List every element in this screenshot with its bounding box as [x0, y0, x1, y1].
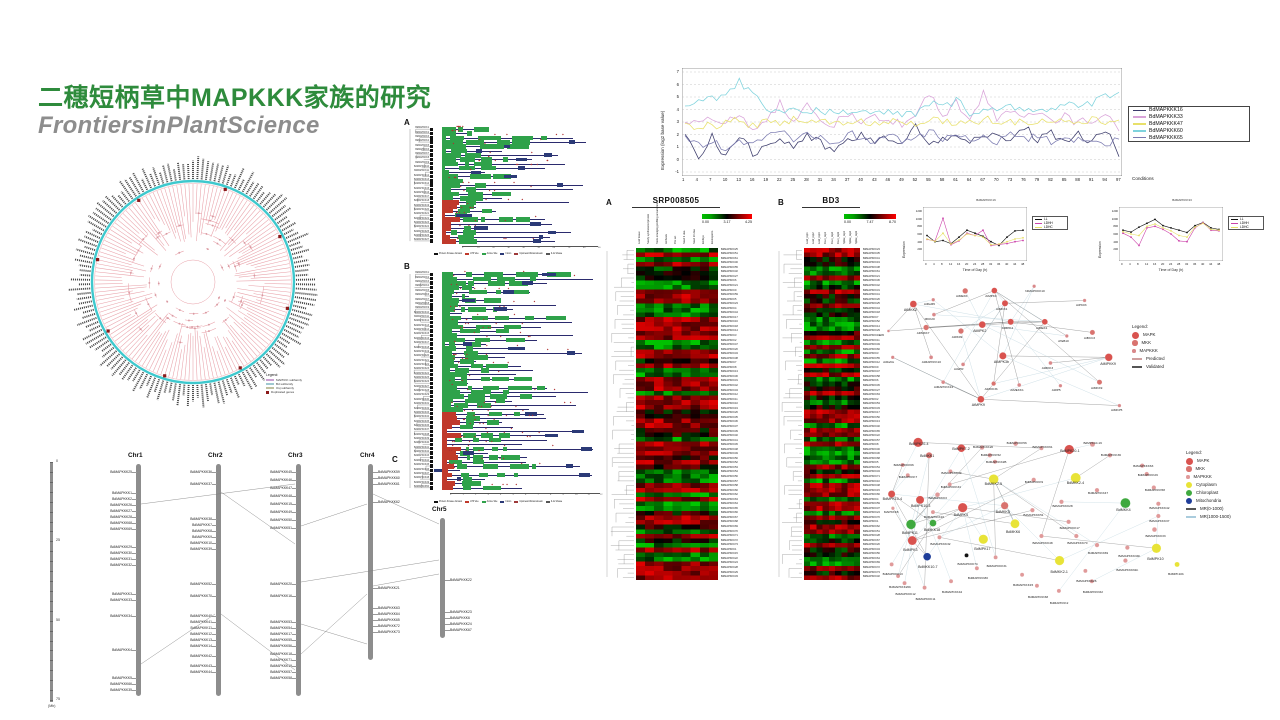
circadian-data-point [1122, 231, 1124, 233]
heatmap-row-label: BdMAPKKK32 [863, 575, 880, 580]
network-legend-item: MKK [1132, 339, 1212, 347]
chart-legend-item: BdMAPKKK60 [1129, 127, 1249, 134]
circadian-data-point [990, 241, 992, 243]
gene-structure-row-label: BdMAPKKK20 [406, 209, 429, 211]
motif-marker: ◆ [450, 306, 452, 308]
motif-marker: ◆ [508, 199, 510, 201]
circadian-data-point [1014, 241, 1016, 243]
motif-marker: ◆ [505, 238, 507, 240]
motif-marker: ◆ [474, 419, 476, 421]
gene-structure-row-label: BdMAPKKK15 [406, 333, 429, 335]
circadian-data-point [1006, 243, 1008, 245]
circadian-plot-right: BdMAPKKK33 Expression 120010008006004002… [1098, 198, 1276, 276]
motif-marker: ◆ [503, 458, 505, 460]
chart-legend-swatch [1133, 110, 1146, 112]
network-legend-dot [1186, 498, 1192, 504]
heatmap-a-scale-bar [702, 214, 752, 219]
gene-structure-row-label: BdMAPKKK22 [406, 218, 429, 220]
circadian-data-point [1218, 229, 1220, 231]
gene-structure-row-label: BdMAPKKK1 [406, 127, 429, 129]
circadian-legend-swatch [1035, 223, 1042, 224]
gs-legend-swatch [500, 501, 504, 503]
motif-marker: ◆ [475, 220, 477, 222]
gs-legend-swatch [482, 253, 486, 255]
motif-marker: ◆ [479, 423, 481, 425]
motif-marker: ◆ [450, 284, 452, 286]
exon-block [463, 486, 471, 491]
motif-marker: ◆ [460, 186, 462, 188]
intron-line [442, 392, 588, 393]
gene-structure-row-label: BdMAPKKK9 [406, 162, 429, 164]
motif-marker: ◆ [522, 323, 524, 325]
gs-legend-swatch [546, 253, 550, 255]
network-node-label: BdMPK20-4 [909, 442, 928, 446]
motif-marker: ◆ [449, 207, 451, 209]
heatmap-b-grid [804, 248, 860, 580]
circadian-data-point [974, 232, 976, 234]
phylo-tree-branches [68, 156, 318, 407]
gs-legend-swatch [514, 253, 518, 255]
network-node-label: BdMAPKKK15 [1013, 583, 1033, 587]
heatmap-b-scale-max: 8.70 [889, 220, 896, 224]
circadian-data-point [1138, 226, 1140, 228]
network-node-label: BdMPK3 [903, 548, 917, 552]
network-legend-label: Mitochondria [1196, 497, 1221, 505]
chart-x-tick: 34 [831, 177, 836, 182]
gene-structure-row: BdMAPKKK27◆◆◆◆ [430, 239, 602, 243]
motif-marker: ◆ [474, 436, 476, 438]
heatmap-b-scale-min: 0.00 [844, 220, 851, 224]
motif-marker: ◆ [459, 306, 461, 308]
network-node-label: BdMKK4 [1116, 508, 1130, 512]
circadian-x-tick: 12 [1145, 262, 1148, 266]
motif-marker: ◆ [535, 216, 537, 218]
gene-structure-row-label: BdMAPKKK13 [406, 325, 429, 327]
chart-y-ticks: 76543210-1 [668, 68, 680, 176]
network-node-label: BdMAPKKK66 [894, 463, 914, 467]
chart-legend-label: BdMAPKKK60 [1149, 128, 1183, 134]
circadian-data-point [950, 243, 952, 245]
network-legend-dot [1186, 490, 1192, 496]
motif-marker: ◆ [461, 380, 463, 382]
chart-legend-label: BdMAPKKK47 [1149, 121, 1183, 127]
circadian-x-tick: 24 [973, 262, 976, 266]
axis-tick: 9 [563, 494, 564, 496]
motif-marker: ◆ [454, 310, 456, 312]
legend-swatch-mapkkk [266, 379, 274, 380]
network-node-label: BdMPK10-19 [1083, 441, 1101, 445]
motif-marker: ◆ [472, 207, 474, 209]
circadian-data-point [1170, 227, 1172, 229]
network-node-label: AtRaf45 [924, 302, 935, 306]
chart-x-tick: 43 [872, 177, 877, 182]
motif-marker: ◆ [469, 423, 471, 425]
heatmap-b-letter: B [778, 198, 784, 207]
gene-structure-row-label: BdMAPKKK3 [406, 136, 429, 138]
motif-marker: ◆ [483, 423, 485, 425]
network-legend-item: Mitochondria [1186, 497, 1280, 505]
motif-marker: ◆ [486, 345, 488, 347]
circadian-data-point [1170, 233, 1172, 235]
heatmap-column-label: Spike_rep2 [849, 231, 852, 244]
intron-line [442, 427, 513, 428]
network-node-label: BdMKK5 [996, 510, 1010, 514]
chart-x-tick: 82 [1048, 177, 1053, 182]
heatmap-column-label: Stem emerging profiling accumulation [656, 201, 659, 244]
circadian-data-point [1178, 240, 1180, 242]
panel-a-letter: A [404, 118, 410, 127]
motif-marker: ◆ [478, 406, 480, 408]
circadian-legend-swatch [1035, 227, 1042, 228]
heatmap-column-label: Root_rep3 [837, 232, 840, 244]
chromosome-gene-label: BdMAPKKK6 [450, 616, 470, 620]
network-node-label: AtMKP5 [1111, 408, 1122, 412]
motif-marker: ◆ [486, 336, 488, 338]
circadian-data-point [1130, 233, 1132, 235]
circadian-legend-label: LDHC [1240, 225, 1249, 229]
motif-marker: ◆ [453, 143, 455, 145]
motif-marker: ◆ [453, 463, 455, 465]
network-legend-item: MAPKKK [1186, 473, 1280, 481]
heatmap-b-color-scale: 0.00 7.47 8.70 [844, 214, 896, 224]
network-node-label: BdMAPKKK63 [1133, 464, 1153, 468]
network-node-label: BdMAPKKK69 [1088, 551, 1108, 555]
motif-marker: ◆ [506, 484, 508, 486]
circadian-right-title: BdMAPKKK33 [1132, 198, 1232, 202]
motif-marker: ◆ [464, 419, 466, 421]
motif-marker: ◆ [479, 139, 481, 141]
chart-x-tick: 79 [1035, 177, 1040, 182]
chart-x-tick: 49 [899, 177, 904, 182]
network-node-label: BdMPK20-1 [1060, 449, 1079, 453]
motif-marker: ◆ [486, 354, 488, 356]
network-legend-label: MR(0-1000) [1200, 505, 1223, 513]
circadian-data-point [1154, 225, 1156, 227]
motif-marker: ◆ [456, 284, 458, 286]
circadian-y-tick: 400 [907, 240, 922, 244]
gene-structure-row-label: BdMAPKKK15 [406, 188, 429, 190]
chart-x-tick: 25 [791, 177, 796, 182]
heatmap-b-title-rule [802, 207, 860, 208]
motif-marker: ◆ [449, 463, 451, 465]
network-legend-label: Predicted [1146, 355, 1165, 363]
gene-structure-row-label: BdMAPKKK1 [406, 272, 429, 274]
motif-marker: ◆ [536, 164, 538, 166]
axis-tick: 60 [553, 247, 555, 249]
motif-marker: ◆ [487, 432, 489, 434]
motif-marker: ◆ [465, 358, 467, 360]
circadian-right-legend: LLLDHHLDHC [1228, 216, 1264, 230]
chart-y-tick: 4 [677, 107, 679, 112]
chart-y-tick: 5 [677, 94, 679, 99]
chart-legend-swatch [1133, 116, 1146, 118]
circular-phylogenetic-tree: Legend: MAPKKK subfamily Bd subfamily Os… [38, 130, 348, 435]
network-top-legend-title: Legend: [1132, 324, 1212, 329]
gene-structure-row-label: BdMAPKKK23 [406, 368, 429, 370]
chart-y-tick: 1 [677, 144, 679, 149]
motif-marker: ◆ [483, 319, 485, 321]
network-node-label: MAPKKK8 [884, 510, 899, 514]
motif-marker: ◆ [495, 323, 497, 325]
circadian-x-tick: 16 [1153, 262, 1156, 266]
axis-tick: 7 [538, 494, 539, 496]
circadian-y-tick: 800 [907, 224, 922, 228]
motif-marker: ◆ [546, 160, 548, 162]
motif-marker: ◆ [493, 362, 495, 364]
gs-legend-swatch [500, 253, 504, 255]
gene-structure-panel-a: A BdMAPKKK1◆◆◆◆◆BdMAPKKK2◆◆◆◆BdMAPKKK3◆◆… [404, 118, 604, 258]
circadian-x-tick: 36 [1193, 262, 1196, 266]
circadian-data-point [1186, 232, 1188, 234]
axis-tick: 3 [488, 494, 489, 496]
network-diagram-brachypodium: BdMPK20-4BdMKK1BdMAPKKK66BdMAPKKK7BdMPK1… [880, 428, 1280, 604]
heatmap-dendrogram-svg [606, 248, 634, 580]
network-node-label: BdMAPKKK80 [968, 576, 988, 580]
circadian-data-point [1186, 236, 1188, 238]
ruler-scale-label: 0 [56, 459, 58, 463]
motif-marker: ◆ [458, 126, 460, 128]
gene-structure-row-label: BdMAPKKK11 [406, 316, 429, 318]
circadian-data-point [990, 244, 992, 246]
circadian-legend-swatch [1231, 219, 1238, 220]
network-diagram-arabidopsis: AtMKK2AtRaf45AtMEKKAtMPK3NtMAPKKK10AtMKK… [880, 282, 1280, 417]
circadian-x-tick: 24 [1169, 262, 1172, 266]
circadian-data-point [1006, 236, 1008, 238]
gene-structure-row-label: BdMAPKKK14 [406, 183, 429, 185]
axis-tick: 4 [500, 494, 501, 496]
motif-marker: ◆ [448, 177, 450, 179]
motif-marker: ◆ [513, 301, 515, 303]
motif-marker: ◆ [528, 415, 530, 417]
motif-marker: ◆ [534, 301, 536, 303]
circadian-legend-swatch [1231, 227, 1238, 228]
legend-swatch-osj [266, 387, 274, 388]
motif-marker: ◆ [484, 288, 486, 290]
motif-marker: ◆ [484, 402, 486, 404]
gene-structure-row-label: BdMAPKKK10 [406, 312, 429, 314]
network-node-label: AtMPK2 [973, 329, 986, 333]
motif-marker: ◆ [462, 358, 464, 360]
motif-marker: ◆ [469, 207, 471, 209]
network-top-legend: Legend: MAPKMKKMAPKKKPredictedValidated [1132, 324, 1212, 371]
motif-marker: ◆ [532, 415, 534, 417]
gene-structure-row-label: BdMAPKKK12 [406, 175, 429, 177]
motif-marker: ◆ [520, 332, 522, 334]
network-node-label: BdMPK10 [1147, 557, 1163, 561]
gene-structure-row-label: BdMAPKKK21 [406, 213, 429, 215]
circadian-plot-left: BdMAPKKK16 Expression 120010008006004002… [902, 198, 1074, 276]
circadian-y-tick: 200 [1103, 247, 1118, 251]
circadian-data-point [998, 243, 1000, 245]
motif-marker: ◆ [495, 402, 497, 404]
panel-b-legend: Protein Kinase domain ATP site Active Si… [434, 501, 565, 504]
heatmap-column-label: Spike_rep1 [843, 231, 846, 244]
gene-structure-row-label: BdMAPKKK24 [406, 226, 429, 228]
gs-legend-swatch [465, 253, 469, 255]
circadian-data-point [942, 217, 944, 219]
motif-marker: ◆ [504, 445, 506, 447]
motif-marker: ◆ [527, 436, 529, 438]
chromosome-gene-label: BdMAPKKK23 [450, 610, 472, 614]
motif-marker: ◆ [547, 349, 549, 351]
chart-y-tick: 7 [677, 69, 679, 74]
panel-b-axis-ticks: 0123456789101112 [450, 494, 600, 499]
chart-y-tick: 2 [677, 132, 679, 137]
circadian-data-point [1202, 222, 1204, 224]
gene-structure-row-label: BdMAPKKK20 [406, 355, 429, 357]
gene-structure-row-label: BdMAPKKK18 [406, 347, 429, 349]
network-bottom-legend-title: Legend: [1186, 450, 1280, 455]
network-node-label: BdMKK18 [924, 528, 940, 532]
motif-marker: ◆ [458, 362, 460, 364]
network-node-label: BdMAPKKK61b [1116, 568, 1138, 572]
circadian-y-tick: 200 [907, 247, 922, 251]
heatmap-column-label: Spike_rep3 [855, 231, 858, 244]
chart-x-tick: 13 [736, 177, 741, 182]
motif-marker: ◆ [481, 458, 483, 460]
circadian-left-x-label: Time of Day (h) [923, 268, 1027, 272]
gene-structure-row-label: BdMAPKKK11 [406, 170, 429, 172]
circadian-data-point [958, 239, 960, 241]
network-legend-line [1132, 366, 1142, 367]
chart-x-tick: 61 [953, 177, 958, 182]
network-legend-line [1132, 358, 1142, 359]
network-node-label: AtMKK9 [1091, 386, 1102, 390]
chart-legend-swatch [1133, 130, 1146, 132]
gene-structure-row-label: BdMAPKKK24 [406, 373, 429, 375]
motif-marker: ◆ [458, 480, 460, 482]
network-node-label: BdMAPKKK56 [1007, 441, 1027, 445]
gene-structure-row-label: BdMAPKKK2 [406, 132, 429, 134]
network-node-label: BdMAPKKK33 [1145, 534, 1165, 538]
circadian-data-point [1154, 219, 1156, 221]
motif-marker: ◆ [466, 319, 468, 321]
circadian-data-point [1138, 245, 1140, 247]
chart-x-axis-label: Conditions [1132, 176, 1154, 181]
network-node-label: BdMAPKKK20 [973, 445, 993, 449]
network-node-label: BdMKK2-1 [1051, 570, 1068, 574]
gs-legend-label: Upstream/Downstream [519, 253, 543, 255]
chromosome-gene-label: BdMAPKKK22 [450, 578, 472, 582]
network-node-label: BdMAPKKK7 [899, 475, 917, 479]
panel-a-legend: Protein Kinase domain ATP site Active Si… [434, 253, 565, 256]
network-legend-dot [1186, 458, 1193, 465]
network-legend-label: MAPK [1197, 457, 1209, 465]
network-legend-item: Cytoplasm [1186, 481, 1280, 489]
network-node-label: BdMAPKKK58 [1145, 488, 1165, 492]
chart-x-tick: 73 [1008, 177, 1013, 182]
motif-marker: ◆ [469, 441, 471, 443]
motif-marker: ◆ [491, 441, 493, 443]
network-legend-item: Predicted [1132, 355, 1212, 363]
heatmap-column-label: Root_rep1 [824, 232, 827, 244]
circadian-x-tick: 48 [1217, 262, 1220, 266]
axis-tick: 20 [492, 247, 494, 249]
heatmap-column-label: Seed 3 daa [683, 231, 686, 244]
circadian-x-tick: 12 [949, 262, 952, 266]
gene-structure-row-label: BdMAPKKK17 [406, 196, 429, 198]
motif-marker: ◆ [451, 384, 453, 386]
network-node-label: ADMKK7 [917, 331, 930, 335]
network-legend-dot [1186, 482, 1192, 488]
motif-marker: ◆ [502, 484, 504, 486]
chart-y-tick: 6 [677, 82, 679, 87]
circadian-left-y-label: Expression [902, 210, 906, 258]
gene-structure-row-label: BdMAPKKK27 [406, 386, 429, 388]
motif-marker: ◆ [498, 288, 500, 290]
circadian-data-point [1162, 227, 1164, 229]
heatmap-column-label: Leaf_rep1 [806, 232, 809, 244]
network-legend-dot [1186, 475, 1190, 479]
network-node-label: BdMAPKKK74 [958, 562, 978, 566]
circadian-x-tick: 0 [925, 262, 927, 266]
chart-x-tick: 4 [696, 177, 698, 182]
motif-marker: ◆ [564, 402, 566, 404]
gene-structure-row-label: BdMAPKKK26 [406, 235, 429, 237]
intron-line [442, 431, 584, 432]
axis-tick: 70 [568, 247, 570, 249]
motif-marker: ◆ [463, 327, 465, 329]
network-node-label: BdMKK10-7 [918, 565, 937, 569]
axis-tick: 11 [588, 494, 590, 496]
network-node-label: BdMAPKKK48 [1032, 541, 1052, 545]
motif-marker: ◆ [462, 126, 464, 128]
gene-structure-row-label: BdMAPKKK16 [406, 338, 429, 340]
chart-y-tick: -1 [675, 169, 679, 174]
gene-structure-row-label: BdMAPKKK22 [406, 364, 429, 366]
chart-x-tick: 22 [777, 177, 782, 182]
network-node-label: AtMEKK [956, 294, 968, 298]
gs-legend-label: Protein Kinase domain [439, 253, 462, 255]
network-top-labels: AtMKK2AtRaf45AtMEKKAtMPK3NtMAPKKK10AtMKK… [880, 282, 1130, 417]
circadian-y-tick: 800 [1103, 224, 1118, 228]
motif-marker: ◆ [472, 410, 474, 412]
panel-b-letter: B [404, 262, 410, 271]
network-node-label: BdMAPKKK39 [941, 471, 961, 475]
network-node-label: BdMAPKKK29 [1138, 473, 1158, 477]
motif-marker: ◆ [462, 182, 464, 184]
circadian-x-tick: 44 [1209, 262, 1212, 266]
panel-a-rows: BdMAPKKK1◆◆◆◆◆BdMAPKKK2◆◆◆◆BdMAPKKK3◆◆◆◆… [430, 127, 602, 243]
motif-marker: ◆ [489, 152, 491, 154]
motif-marker: ◆ [494, 190, 496, 192]
heatmap-a-color-scale: 0.00 3.17 4.25 [702, 214, 752, 224]
circadian-data-point [926, 238, 928, 240]
axis-tick: 50 [538, 247, 540, 249]
circadian-data-point [1162, 225, 1164, 227]
network-node-label: BdMAPKKK11 [916, 597, 936, 601]
motif-marker: ◆ [530, 186, 532, 188]
network-legend-item: MAPKKK [1132, 347, 1212, 355]
circadian-data-point [1022, 240, 1024, 242]
heatmap-a-title: SRP008505 [628, 196, 724, 205]
chart-x-tick: 85 [1062, 177, 1067, 182]
gene-structure-row-label: BdMAPKKK8 [406, 303, 429, 305]
network-node-label: BdMPK10-4 [883, 497, 902, 501]
motif-marker: ◆ [456, 406, 458, 408]
motif-marker: ◆ [534, 389, 536, 391]
circadian-left-title: BdMAPKKK16 [936, 198, 1036, 202]
network-node-label: BdMAPKKK51 [1023, 513, 1043, 517]
motif-marker: ◆ [459, 225, 461, 227]
chart-legend-swatch [1133, 123, 1146, 125]
circadian-right-plot [1119, 207, 1223, 261]
gs-legend-swatch [546, 501, 550, 503]
axis-tick: 2 [475, 494, 476, 496]
network-legend-dot [1132, 340, 1138, 346]
heatmap-b-scale-bar [844, 214, 896, 219]
network-legend-item: MAPK [1186, 457, 1280, 465]
